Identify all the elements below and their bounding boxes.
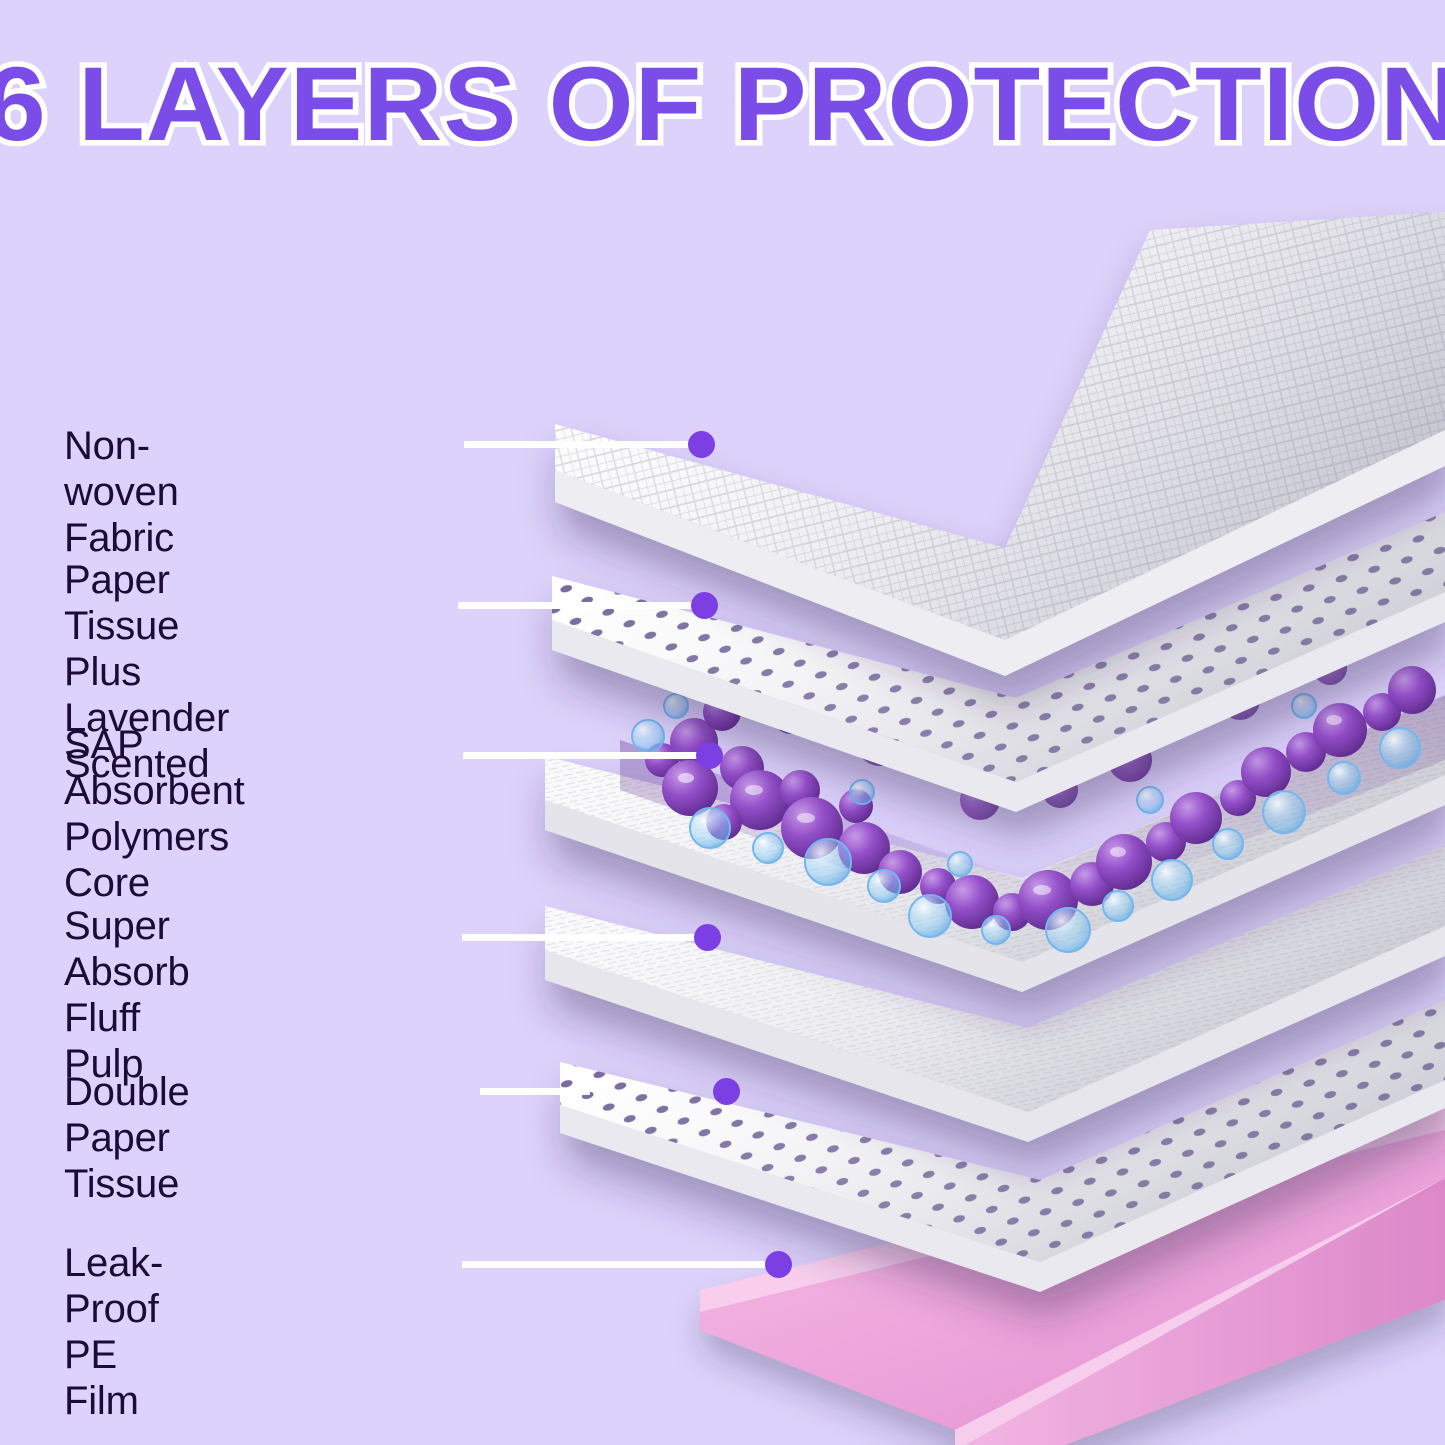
leader-dot-2 — [691, 592, 718, 619]
leader-dot-6 — [765, 1251, 792, 1278]
infographic-canvas: 6 LAYERS OF PROTECTION — [0, 0, 1445, 1445]
callout-label-fluff-pulp: Super Absorb Fluff Pulp — [64, 903, 190, 1087]
leader-line-1 — [464, 441, 704, 448]
leader-line-6 — [462, 1261, 782, 1268]
leader-dot-5 — [713, 1078, 740, 1105]
leader-line-3 — [463, 752, 711, 759]
leader-line-5 — [480, 1088, 590, 1095]
leader-dot-1 — [688, 431, 715, 458]
callout-label-sap-absorbent-core: SAP Absorbent Polymers Core — [64, 722, 245, 906]
leader-line-2 — [458, 602, 706, 609]
leader-dot-4 — [694, 924, 721, 951]
callout-label-double-paper-tissue: Double Paper Tissue — [64, 1069, 190, 1207]
callout-label-non-woven-fabric: Non-woven Fabric — [64, 423, 179, 561]
leader-dot-3 — [696, 742, 723, 769]
callout-label-leak-proof-pe-film: Leak-Proof PE Film — [64, 1240, 163, 1424]
leader-line-4 — [462, 934, 710, 941]
